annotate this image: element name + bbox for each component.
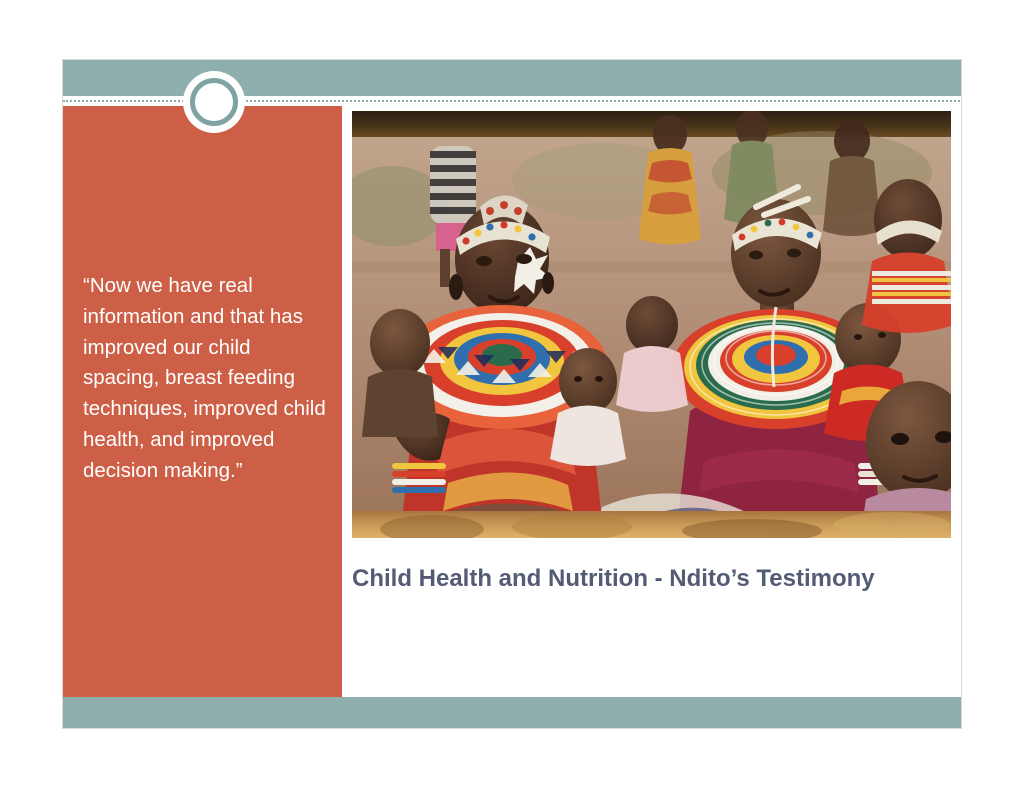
page-title: Child Health and Nutrition - Ndito’s Tes…: [352, 561, 932, 597]
presentation-slide: “Now we have real information and that h…: [62, 59, 962, 729]
quote-panel: “Now we have real information and that h…: [63, 106, 342, 697]
screenshot-canvas: “Now we have real information and that h…: [0, 0, 1024, 791]
circle-ring-inner-icon: [190, 78, 238, 126]
slide-photo-graphic: [352, 111, 951, 538]
content-column: Child Health and Nutrition - Ndito’s Tes…: [342, 106, 962, 697]
slide-photo: [352, 111, 951, 538]
bottom-accent-band: [63, 697, 962, 728]
quote-text: “Now we have real information and that h…: [83, 271, 329, 487]
circle-ring-decoration-icon: [183, 71, 245, 133]
